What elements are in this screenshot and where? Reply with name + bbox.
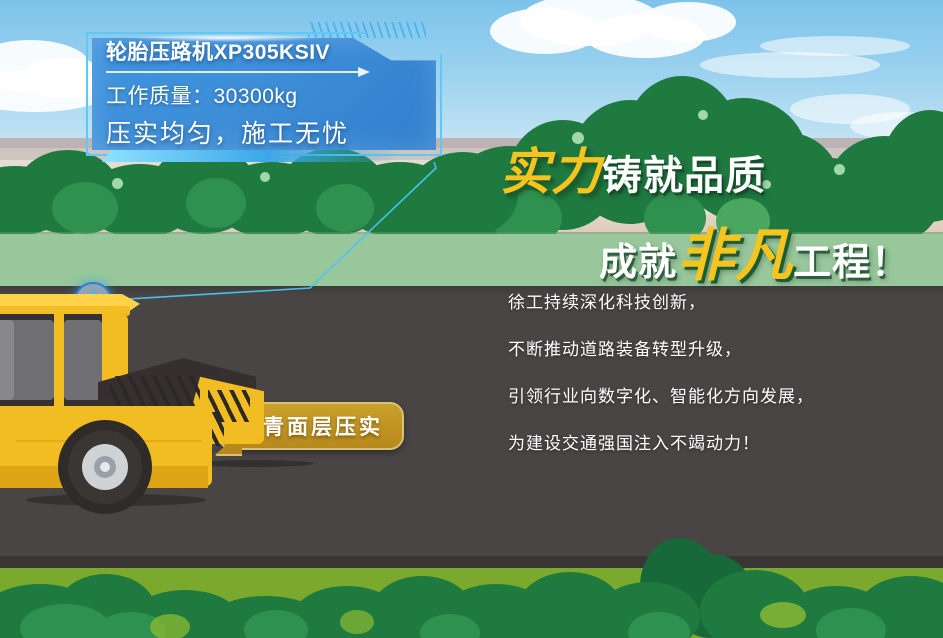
spec-card-weight: 工作质量：30300kg: [106, 80, 422, 110]
body-copy-line: 引领行业向数字化、智能化方向发展，: [508, 382, 908, 407]
roller-cab-glass-rear: [64, 320, 102, 400]
body-copy-line: 不断推动道路装备转型升级，: [508, 335, 908, 360]
headline-gold-2: 非凡: [677, 210, 793, 292]
headline: 实力 铸就品质 成就 非凡 工程！: [500, 132, 910, 292]
cloud-icon: [640, 2, 736, 42]
spec-card-title: 轮胎压路机XP305KSIV: [106, 36, 422, 66]
pneumatic-roller-icon: [0, 280, 236, 520]
cloud-icon: [700, 52, 880, 78]
headline-gold-1: 实力: [500, 132, 602, 204]
roller-cab-pillar: [54, 314, 64, 408]
headline-white-2b: 工程！: [793, 231, 910, 286]
spec-card: 轮胎压路机XP305KSIV 工作质量：30300kg 压实均匀，施工无忧: [86, 24, 442, 156]
arrow-right-icon: [106, 71, 358, 73]
body-copy: 徐工持续深化科技创新， 不断推动道路装备转型升级， 引领行业向数字化、智能化方向…: [508, 288, 908, 454]
body-copy-line: 徐工持续深化科技创新，: [508, 288, 908, 313]
headline-white-2a: 成就: [599, 231, 677, 286]
spec-card-slogan: 压实均匀，施工无忧: [106, 114, 422, 150]
roller-cab-glass-highlight: [0, 320, 14, 400]
headline-white-1: 铸就品质: [602, 143, 766, 201]
roller-hub-center: [100, 462, 110, 472]
promo-banner: 轮胎压路机XP305KSIV 工作质量：30300kg 压实均匀，施工无忧 实力…: [0, 0, 943, 638]
body-copy-line: 为建设交通强国注入不竭动力！: [508, 429, 908, 454]
cloud-icon: [760, 36, 910, 56]
spec-card-accent-bar: [102, 150, 402, 162]
roller-hood-louvers-side: [208, 390, 250, 422]
bottom-bush-row: [0, 560, 943, 638]
